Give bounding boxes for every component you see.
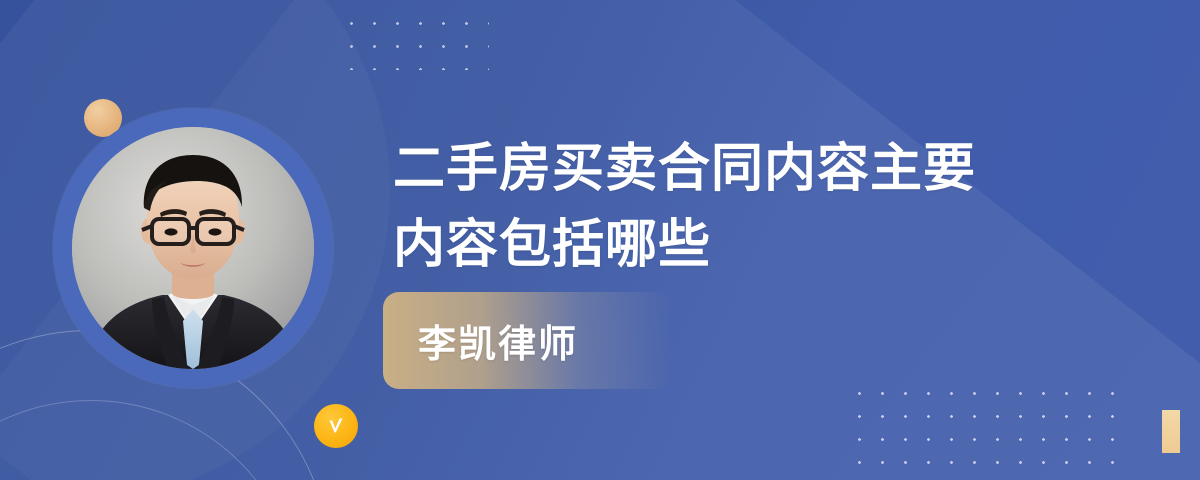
avatar	[53, 108, 333, 388]
avatar-photo	[72, 127, 314, 369]
verified-badge-icon	[314, 404, 358, 448]
dot-grid-top-left	[337, 8, 489, 70]
gold-bar-decoration	[1162, 410, 1180, 453]
page-title: 二手房买卖合同内容主要 内容包括哪些	[393, 131, 1073, 283]
article-cover-banner: 二手房买卖合同内容主要 内容包括哪些 李凯律师	[0, 0, 1200, 480]
dot-grid-bottom-right	[845, 378, 1123, 473]
status-badge: 李凯律师	[383, 292, 673, 389]
lawyer-name-label: 李凯律师	[418, 313, 578, 368]
